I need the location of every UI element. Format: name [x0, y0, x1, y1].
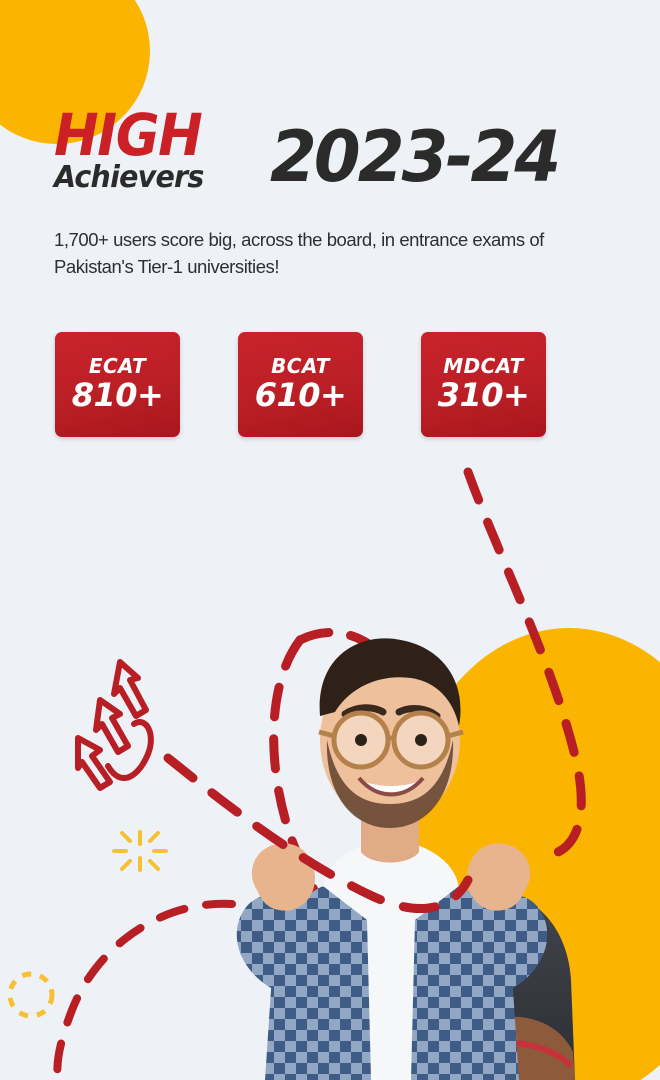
headline-stacked-words: HIGH Achievers: [54, 108, 266, 193]
yellow-dotted-circle: [10, 974, 52, 1016]
headline-word-high: HIGH: [54, 108, 249, 163]
promo-banner: HIGH Achievers 2023-24 1,700+ users scor…: [0, 0, 660, 1080]
badge-exam-label: MDCAT: [443, 356, 523, 376]
badge-score-value: 310+: [438, 379, 530, 413]
headline-word-achievers: Achievers: [54, 163, 255, 194]
badge-score-value: 810+: [72, 379, 164, 413]
eye-left: [355, 734, 367, 746]
badge-exam-label: BCAT: [271, 356, 330, 376]
score-badge-bcat[interactable]: BCAT 610+: [238, 332, 363, 437]
badge-score-value: 610+: [255, 379, 347, 413]
headline-block: HIGH Achievers 2023-24: [54, 108, 654, 218]
score-badge-mdcat[interactable]: MDCAT 310+: [421, 332, 546, 437]
score-badge-row: ECAT 810+ BCAT 610+ MDCAT 310+: [55, 332, 595, 438]
hero-photo: [175, 590, 605, 1080]
headline-year-range: 2023-24: [270, 122, 558, 192]
subtitle-line-1: 1,700+ users score big, across the board…: [54, 229, 544, 250]
score-badge-ecat[interactable]: ECAT 810+: [55, 332, 180, 437]
triple-up-arrow-outline: [78, 662, 151, 788]
eye-right: [415, 734, 427, 746]
badge-exam-label: ECAT: [89, 356, 146, 376]
subtitle-block: 1,700+ users score big, across the board…: [54, 227, 634, 281]
yellow-starburst: [114, 832, 166, 870]
subtitle-line-2: Pakistan's Tier-1 universities!: [54, 256, 279, 277]
